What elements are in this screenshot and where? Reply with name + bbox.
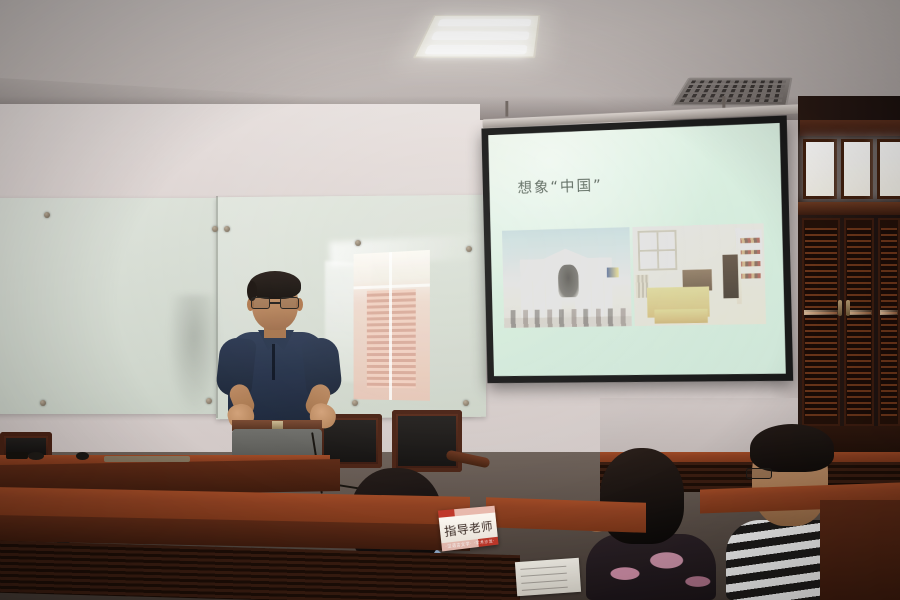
desk-row-front-right (486, 497, 646, 533)
whiteboard-bolt (352, 400, 358, 406)
slide-canvas: 想象“中国” (488, 123, 786, 376)
slide-image-row (502, 224, 767, 328)
reflected-mullion (389, 252, 392, 400)
louvered-shutter[interactable] (878, 218, 900, 426)
whiteboard-bolt (355, 240, 361, 246)
screen-hook (505, 101, 508, 117)
shutter-light-streak (880, 310, 898, 315)
ceiling-light-left-icon (413, 15, 541, 58)
photo-books (739, 261, 761, 266)
window-mid-rail (798, 202, 900, 215)
shutter-slats (847, 228, 871, 416)
glasses-bridge (270, 302, 280, 304)
presenter (206, 272, 346, 462)
whiteboard-window-reflection (354, 250, 430, 401)
fluorescent-tube (424, 45, 528, 54)
slide-photo-neoclassical-building (502, 228, 632, 328)
projection-screen: 想象“中国” (477, 115, 805, 401)
desk-object-marker-tray (104, 456, 190, 462)
fluorescent-tube (437, 19, 532, 26)
whiteboard-bolt (463, 400, 469, 406)
louvered-shutter[interactable] (802, 218, 840, 426)
whiteboard-bolt (224, 226, 230, 232)
glasses-lens (280, 297, 299, 309)
presenter-placket (272, 344, 275, 380)
photo-window-mullion (657, 233, 660, 268)
paper-line (521, 566, 567, 570)
name-card-placard: 指导老师 ·汉语言文学· ·学术沙龙· (438, 506, 499, 552)
chair[interactable] (392, 410, 462, 472)
transom-window (877, 139, 900, 199)
glasses-icon (250, 297, 300, 309)
screen-border: 想象“中国” (481, 115, 793, 383)
ceiling-light-right-icon (671, 78, 793, 106)
louver-slat (691, 81, 786, 84)
photo-pedestrians (504, 308, 632, 328)
fluorescent-tube (430, 32, 530, 40)
whiteboard-bolt (212, 226, 218, 232)
shutter-light-streak (804, 310, 838, 315)
chair-back (392, 410, 462, 472)
transom-window (841, 139, 873, 199)
louvered-shutter[interactable] (844, 218, 874, 426)
handout-paper (515, 558, 581, 596)
louver-slat (688, 85, 785, 88)
photo-books (739, 250, 761, 255)
photo-flag (607, 267, 619, 277)
photo-equestrian-statue (558, 264, 579, 298)
whiteboard-bolt (466, 246, 472, 252)
louver-slat (683, 94, 784, 97)
desk-leg-right (820, 500, 900, 600)
photo-bedding (655, 309, 708, 324)
student-hair (750, 424, 834, 472)
desk-object-clip (28, 452, 44, 460)
desk-front-panel (820, 500, 900, 600)
desk-surface (486, 497, 646, 533)
shutter-slats (805, 228, 836, 416)
classroom-photo: 想象“中国” (0, 0, 900, 600)
slide-title: 想象“中国” (517, 174, 603, 198)
shutter-slats (881, 228, 898, 416)
desk-object-knob (76, 452, 89, 460)
louver-slat (680, 99, 782, 102)
window-handle[interactable] (838, 300, 842, 316)
paper-line (521, 573, 567, 577)
photo-room-window (637, 230, 677, 270)
whiteboard-bolt (40, 400, 46, 406)
window-head-frame (800, 120, 900, 136)
window-handle[interactable] (846, 300, 850, 316)
whiteboard-bolt (44, 212, 50, 218)
photo-books (738, 238, 760, 243)
photo-cabinet (722, 254, 739, 298)
glasses-lens (251, 297, 270, 309)
slide-photo-dorm-interior (632, 224, 766, 326)
paper-line (521, 580, 567, 584)
transom-window (803, 139, 837, 199)
presenter-hair (249, 271, 301, 299)
louver-slat (685, 89, 784, 92)
paper-line (522, 587, 568, 591)
photo-books (739, 273, 761, 278)
glasses-icon (746, 468, 772, 479)
desk-object-cable (6, 452, 28, 459)
